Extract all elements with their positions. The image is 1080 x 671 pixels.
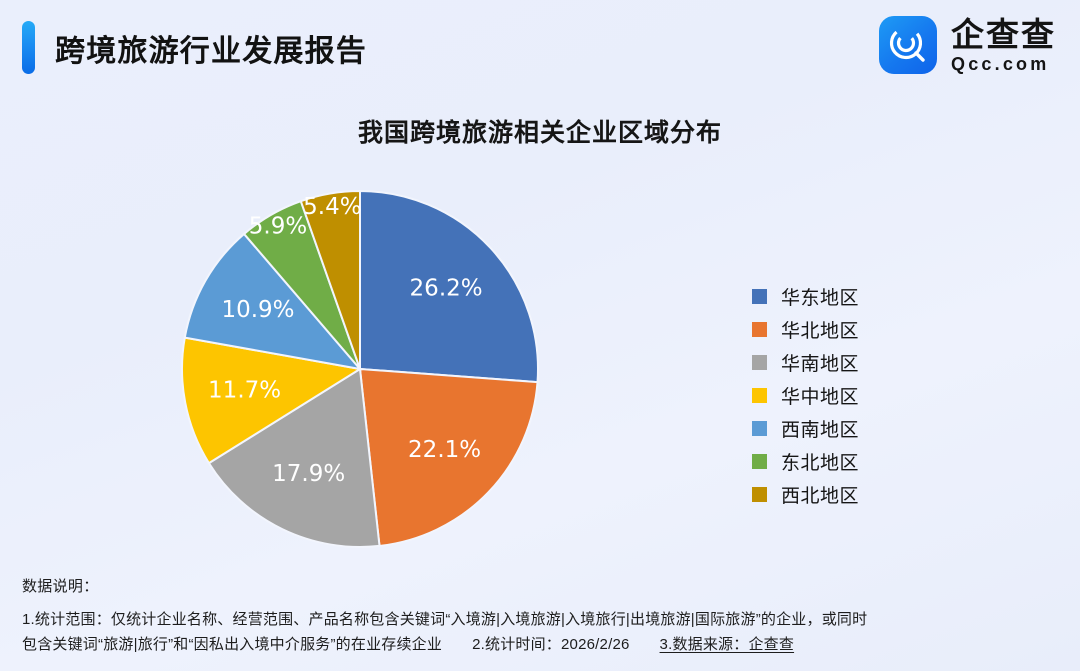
page-title: 跨境旅游行业发展报告 bbox=[55, 26, 367, 70]
legend-label: 华南地区 bbox=[781, 349, 859, 376]
legend-label: 华北地区 bbox=[781, 316, 859, 343]
legend-swatch-icon bbox=[752, 355, 767, 370]
legend-item[interactable]: 西南地区 bbox=[752, 412, 859, 445]
legend-item[interactable]: 西北地区 bbox=[752, 478, 859, 511]
footer-scope-line: 1.统计范围：仅统计企业名称、经营范围、产品名称包含关键词“入境游|入境旅游|入… bbox=[22, 607, 1062, 632]
legend-swatch-icon bbox=[752, 289, 767, 304]
legend-swatch-icon bbox=[752, 322, 767, 337]
legend-swatch-icon bbox=[752, 388, 767, 403]
title-block: 跨境旅游行业发展报告 bbox=[22, 21, 367, 74]
legend-label: 西北地区 bbox=[781, 481, 859, 508]
pie-slice-label: 10.9% bbox=[221, 297, 294, 323]
legend-swatch-icon bbox=[752, 487, 767, 502]
legend-item[interactable]: 华北地区 bbox=[752, 313, 859, 346]
chart-legend: 华东地区华北地区华南地区华中地区西南地区东北地区西北地区 bbox=[752, 280, 859, 511]
legend-label: 华中地区 bbox=[781, 382, 859, 409]
accent-bar-icon bbox=[22, 21, 35, 74]
footer-data-source[interactable]: 3.数据来源：企查查 bbox=[660, 632, 795, 657]
pie-slice-label: 17.9% bbox=[272, 461, 345, 487]
footer-scope-cont: 包含关键词“旅游|旅行”和“因私出入境中介服务”的在业存续企业 bbox=[22, 632, 442, 657]
brand-logo-text: 企查查 Qcc.com bbox=[951, 18, 1056, 73]
brand-logo[interactable]: 企查查 Qcc.com bbox=[879, 16, 1056, 74]
legend-item[interactable]: 华南地区 bbox=[752, 346, 859, 379]
legend-item[interactable]: 华东地区 bbox=[752, 280, 859, 313]
chart-title: 我国跨境旅游相关企业区域分布 bbox=[0, 113, 1080, 149]
footer-meta-line: 包含关键词“旅游|旅行”和“因私出入境中介服务”的在业存续企业 2.统计时间：2… bbox=[22, 632, 1062, 657]
qcc-logo-icon bbox=[879, 16, 937, 74]
legend-label: 华东地区 bbox=[781, 283, 859, 310]
footer-stat-time: 2.统计时间：2026/2/26 bbox=[472, 632, 629, 657]
legend-label: 东北地区 bbox=[781, 448, 859, 475]
page-header: 跨境旅游行业发展报告 企查查 Qcc.com bbox=[0, 0, 1080, 95]
pie-slice-label: 26.2% bbox=[410, 276, 483, 302]
legend-item[interactable]: 东北地区 bbox=[752, 445, 859, 478]
brand-name-cn: 企查查 bbox=[951, 18, 1056, 51]
legend-label: 西南地区 bbox=[781, 415, 859, 442]
legend-swatch-icon bbox=[752, 454, 767, 469]
legend-swatch-icon bbox=[752, 421, 767, 436]
legend-item[interactable]: 华中地区 bbox=[752, 379, 859, 412]
pie-chart[interactable]: 26.2%22.1%17.9%11.7%10.9%5.9%5.4% bbox=[175, 183, 555, 555]
chart-area: 26.2%22.1%17.9%11.7%10.9%5.9%5.4% 华东地区华北… bbox=[0, 175, 1080, 555]
pie-slice-label: 5.4% bbox=[303, 194, 361, 220]
footer-heading: 数据说明： bbox=[22, 575, 1062, 596]
pie-slice-label: 11.7% bbox=[208, 378, 281, 404]
pie-slice-label: 5.9% bbox=[249, 214, 307, 240]
pie-slice-label: 22.1% bbox=[408, 437, 481, 463]
footer-notes: 数据说明： 1.统计范围：仅统计企业名称、经营范围、产品名称包含关键词“入境游|… bbox=[22, 575, 1062, 657]
brand-name-en: Qcc.com bbox=[951, 55, 1056, 73]
